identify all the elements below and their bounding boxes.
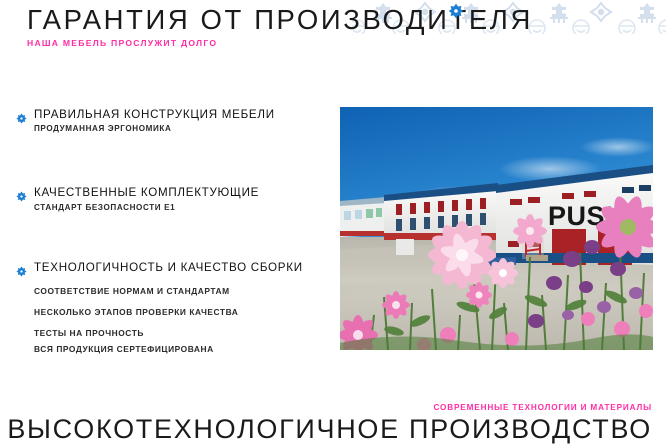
footer-kicker: СОВРЕМЕННЫЕ ТЕХНОЛОГИИ И МАТЕРИАЛЫ	[0, 403, 652, 412]
feature-heading-row: ПРАВИЛЬНАЯ КОНСТРУКЦИЯ МЕБЕЛИ	[16, 108, 336, 122]
snowflake-icon	[16, 111, 27, 122]
feature-title: КАЧЕСТВЕННЫЕ КОМПЛЕКТУЮЩИЕ	[34, 186, 259, 200]
list-item: ВСЯ ПРОДУКЦИЯ СЕРТЕФИЦИРОВАНА	[34, 344, 336, 354]
snowflake-icon	[448, 3, 464, 19]
slide-root: ГАРАНТИЯ ОТ ПРОИЗВОДИТЕЛЯ НАША МЕБЕЛЬ ПР…	[0, 0, 666, 444]
feature-sub-list: СООТВЕТСТВИЕ НОРМАМ И СТАНДАРТАМ НЕСКОЛЬ…	[34, 286, 336, 354]
feature-heading-row: ТЕХНОЛОГИЧНОСТЬ И КАЧЕСТВО СБОРКИ	[16, 261, 336, 275]
page-title: ГАРАНТИЯ ОТ ПРОИЗВОДИТЕЛЯ	[27, 6, 647, 35]
list-item: НЕСКОЛЬКО ЭТАПОВ ПРОВЕРКИ КАЧЕСТВА	[34, 307, 336, 317]
feature-heading-row: КАЧЕСТВЕННЫЕ КОМПЛЕКТУЮЩИЕ	[16, 186, 336, 200]
list-item: СООТВЕТСТВИЕ НОРМАМ И СТАНДАРТАМ	[34, 286, 336, 296]
feature-block: ПРАВИЛЬНАЯ КОНСТРУКЦИЯ МЕБЕЛИ ПРОДУМАННА…	[16, 108, 336, 133]
snowflake-icon	[16, 264, 27, 275]
feature-block: КАЧЕСТВЕННЫЕ КОМПЛЕКТУЮЩИЕ СТАНДАРТ БЕЗО…	[16, 186, 336, 211]
factory-photo: PUSHE	[340, 107, 653, 350]
header: ГАРАНТИЯ ОТ ПРОИЗВОДИТЕЛЯ НАША МЕБЕЛЬ ПР…	[27, 6, 647, 48]
feature-title: ТЕХНОЛОГИЧНОСТЬ И КАЧЕСТВО СБОРКИ	[34, 261, 303, 275]
footer: СОВРЕМЕННЫЕ ТЕХНОЛОГИИ И МАТЕРИАЛЫ ВЫСОК…	[0, 403, 666, 444]
feature-block: ТЕХНОЛОГИЧНОСТЬ И КАЧЕСТВО СБОРКИ СООТВЕ…	[16, 261, 336, 354]
footer-title: ВЫСОКОТЕХНОЛОГИЧНОЕ ПРОИЗВОДСТВО	[0, 414, 652, 444]
feature-subtitle: СТАНДАРТ БЕЗОПАСНОСТИ Е1	[34, 203, 336, 212]
feature-subtitle: ПРОДУМАННАЯ ЭРГОНОМИКА	[34, 124, 336, 133]
feature-title: ПРАВИЛЬНАЯ КОНСТРУКЦИЯ МЕБЕЛИ	[34, 108, 275, 122]
page-subtitle: НАША МЕБЕЛЬ ПРОСЛУЖИТ ДОЛГО	[27, 38, 647, 48]
list-item: ТЕСТЫ НА ПРОЧНОСТЬ	[34, 328, 336, 338]
snowflake-icon	[16, 189, 27, 200]
feature-list: ПРАВИЛЬНАЯ КОНСТРУКЦИЯ МЕБЕЛИ ПРОДУМАННА…	[16, 108, 336, 354]
